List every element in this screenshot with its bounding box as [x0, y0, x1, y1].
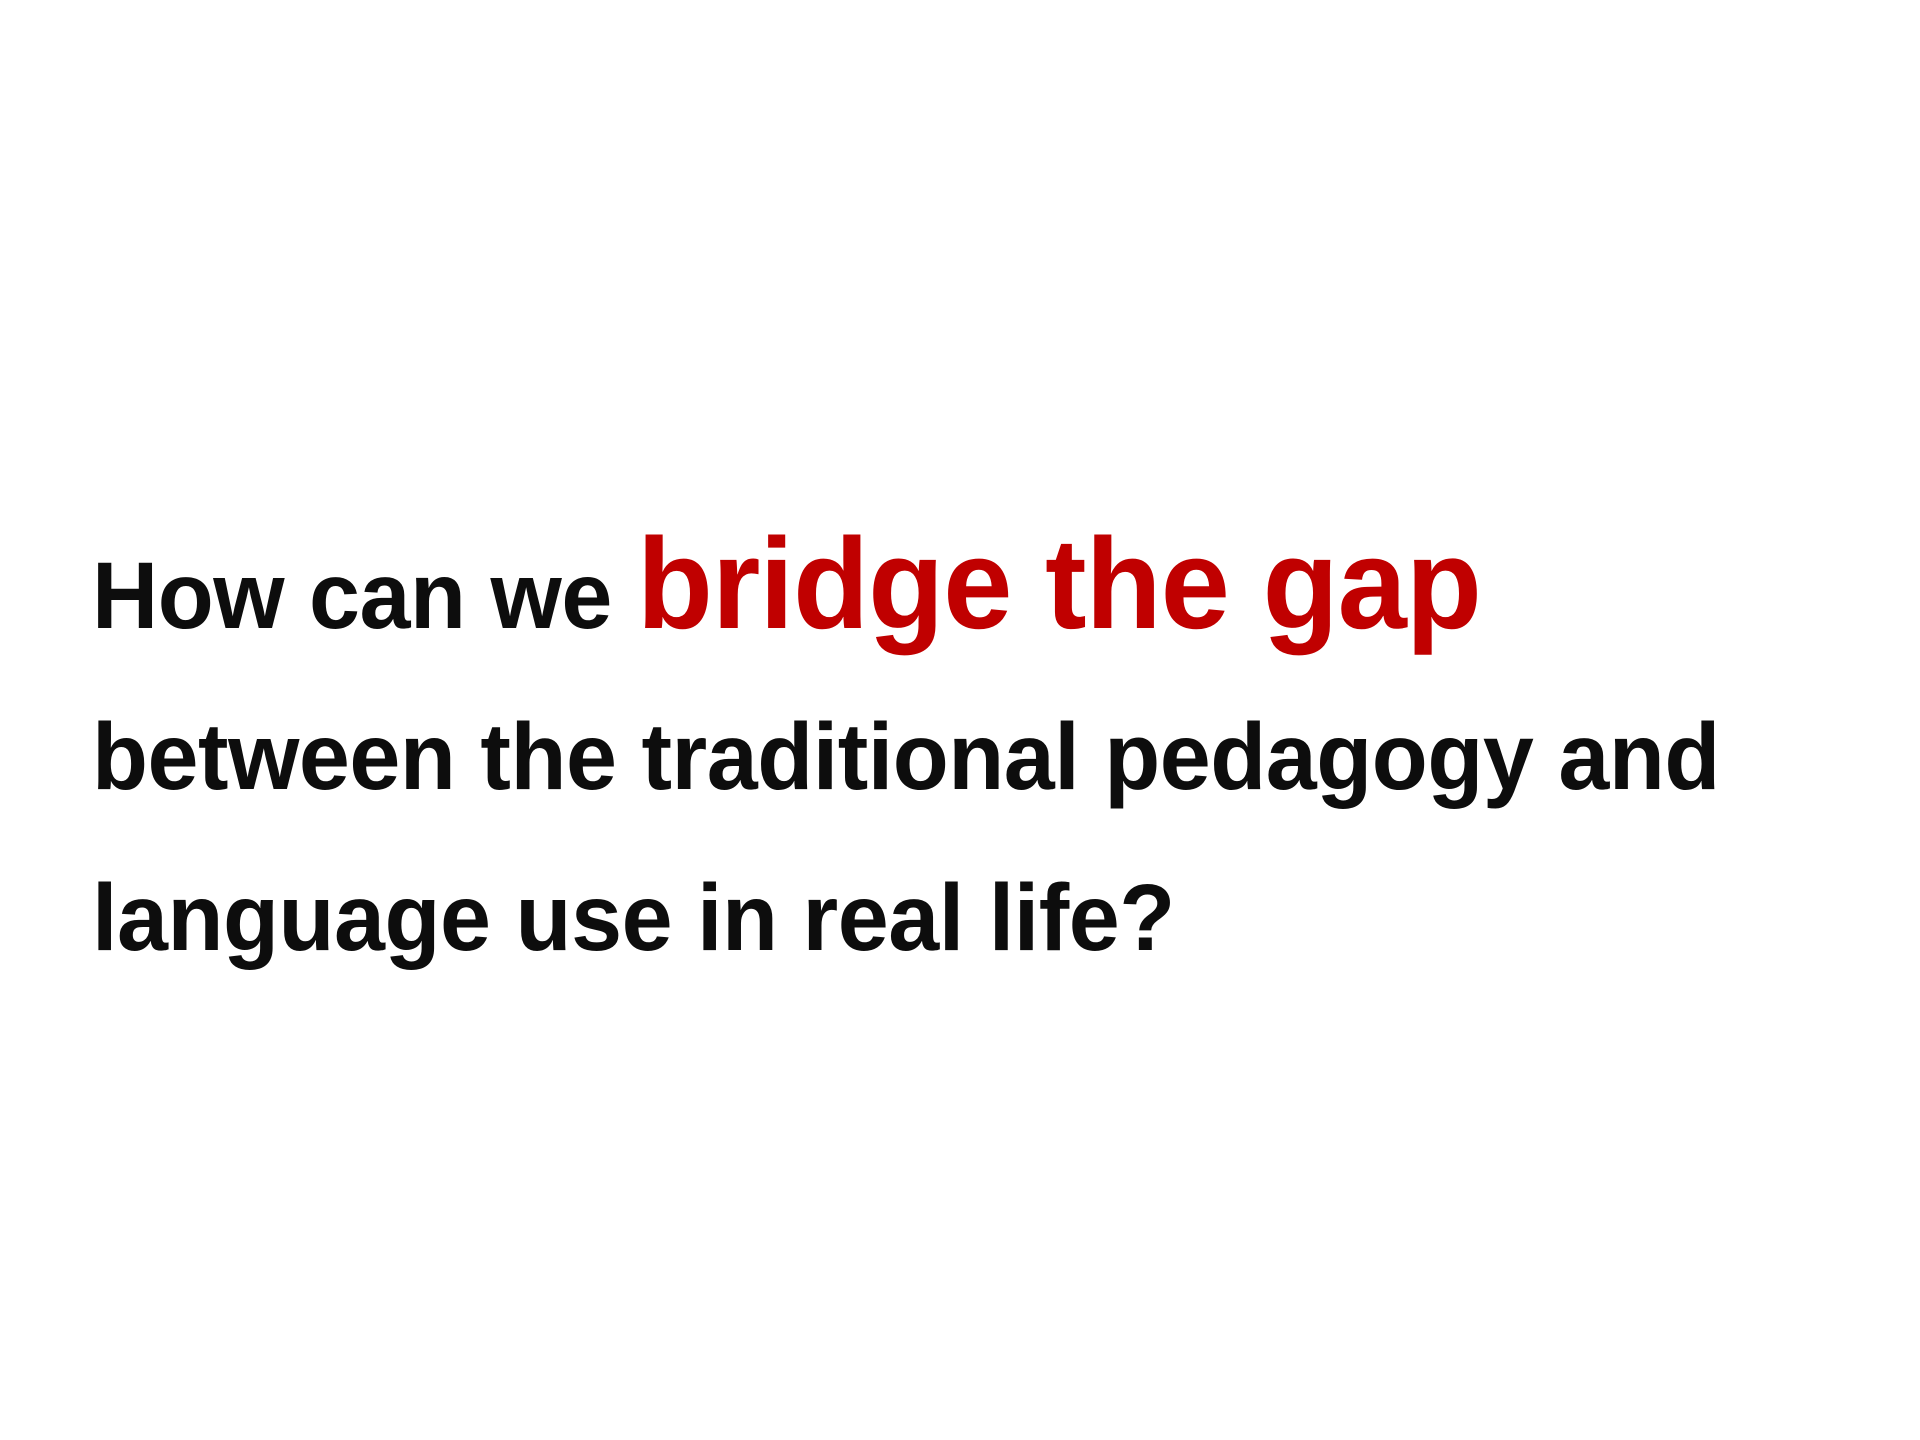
- headline: How can we bridge the gap between the tr…: [92, 516, 1790, 999]
- slide-canvas: How can we bridge the gap between the tr…: [0, 0, 1920, 1440]
- headline-emphasis-text: bridge the gap: [637, 512, 1481, 656]
- slide-text-block: How can we bridge the gap between the tr…: [92, 516, 1852, 999]
- headline-tail-text: between the traditional pedagogy and lan…: [92, 704, 1720, 971]
- headline-lead-text: How can we: [92, 543, 637, 649]
